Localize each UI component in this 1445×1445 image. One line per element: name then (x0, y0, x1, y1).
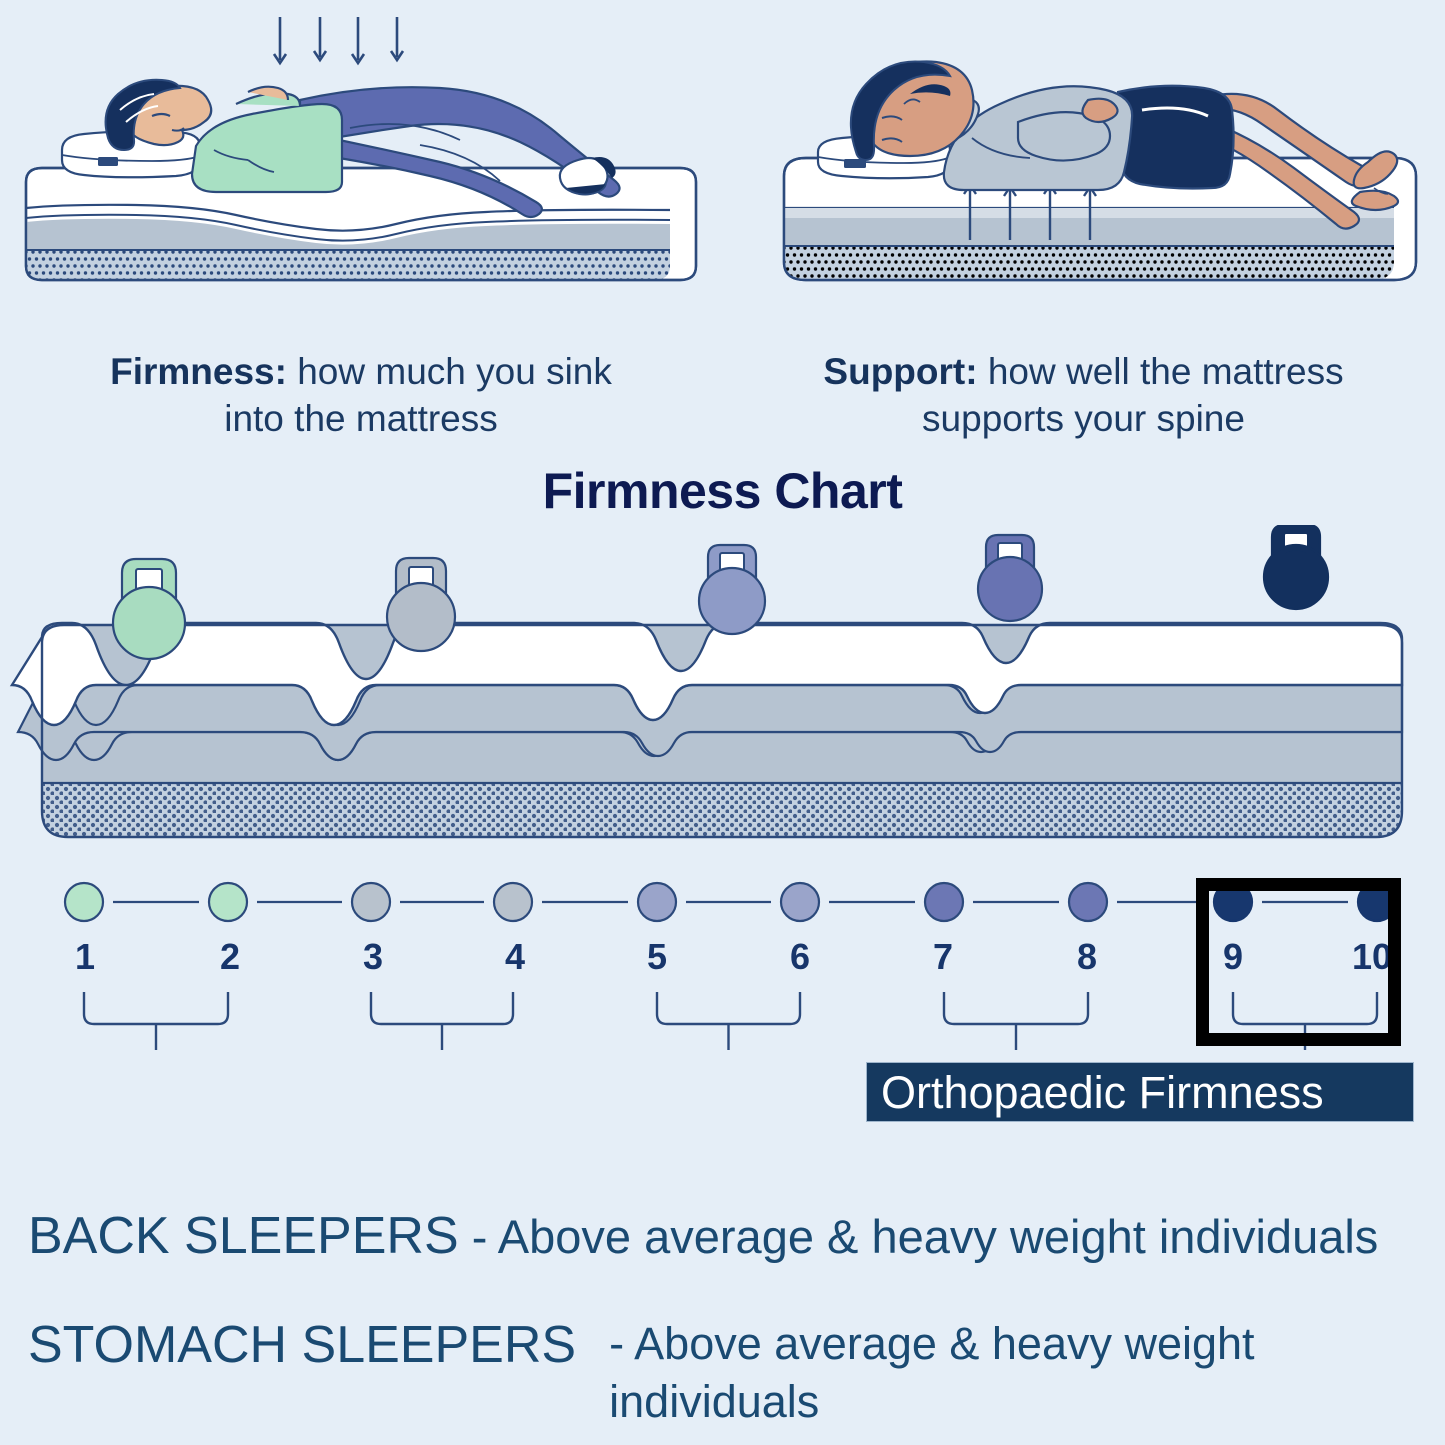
scale-number-4: 4 (485, 936, 545, 978)
stomach-sleepers-heading: STOMACH SLEEPERS (28, 1316, 576, 1374)
firmness-caption-strong: Firmness: (110, 351, 287, 392)
orthopaedic-highlight-box (1196, 878, 1401, 1046)
kettlebell-1 (113, 559, 185, 659)
stomach-sleepers-line: STOMACH SLEEPERS - Above average & heavy… (28, 1315, 1438, 1431)
back-sleepers-heading: BACK SLEEPERS (28, 1207, 459, 1265)
scale-bracket-1-2 (84, 992, 228, 1024)
kettlebell-5 (1264, 525, 1328, 609)
scale-bracket-5-6 (657, 992, 800, 1024)
firmness-chart-graphic (0, 525, 1445, 845)
firmness-caption-rest: how much you sink (287, 351, 612, 392)
firmness-caption: Firmness: how much you sink into the mat… (0, 348, 722, 442)
kettlebell-2 (387, 558, 455, 651)
kettlebell-3 (699, 545, 765, 634)
infographic-root: Firmness: how much you sink into the mat… (0, 0, 1445, 1445)
scale-number-6: 6 (770, 936, 830, 978)
chart-title: Firmness Chart (0, 462, 1445, 520)
scale-dot-2[interactable] (209, 883, 247, 921)
down-arrows-icon (274, 17, 403, 63)
support-illustration (722, 0, 1444, 300)
back-sleepers-line: BACK SLEEPERS - Above average & heavy we… (28, 1206, 1438, 1266)
scale-dot-4[interactable] (494, 883, 532, 921)
scale-bracket-3-4 (371, 992, 513, 1024)
support-caption: Support: how well the mattress supports … (722, 348, 1445, 442)
scale-number-3: 3 (343, 936, 403, 978)
support-caption-line2: supports your spine (922, 398, 1245, 439)
scale-dot-6[interactable] (781, 883, 819, 921)
scale-number-8: 8 (1057, 936, 1117, 978)
scale-dot-7[interactable] (925, 883, 963, 921)
kettlebell-4 (978, 535, 1042, 621)
scale-dot-1[interactable] (65, 883, 103, 921)
scale-number-1: 1 (55, 936, 115, 978)
orthopaedic-firmness-badge: Orthopaedic Firmness (866, 1062, 1414, 1122)
firmness-illustration (0, 0, 722, 300)
scale-bracket-7-8 (944, 992, 1088, 1024)
stomach-sleepers-detail: - Above average & heavy weight individua… (609, 1315, 1309, 1431)
scale-dot-8[interactable] (1069, 883, 1107, 921)
scale-dot-5[interactable] (638, 883, 676, 921)
back-sleepers-detail: - Above average & heavy weight individua… (472, 1210, 1379, 1263)
support-caption-rest: how well the mattress (978, 351, 1344, 392)
scale-number-5: 5 (627, 936, 687, 978)
support-caption-strong: Support: (823, 351, 977, 392)
scale-number-2: 2 (200, 936, 260, 978)
firmness-caption-line2: into the mattress (224, 398, 498, 439)
scale-number-7: 7 (913, 936, 973, 978)
scale-dot-3[interactable] (352, 883, 390, 921)
